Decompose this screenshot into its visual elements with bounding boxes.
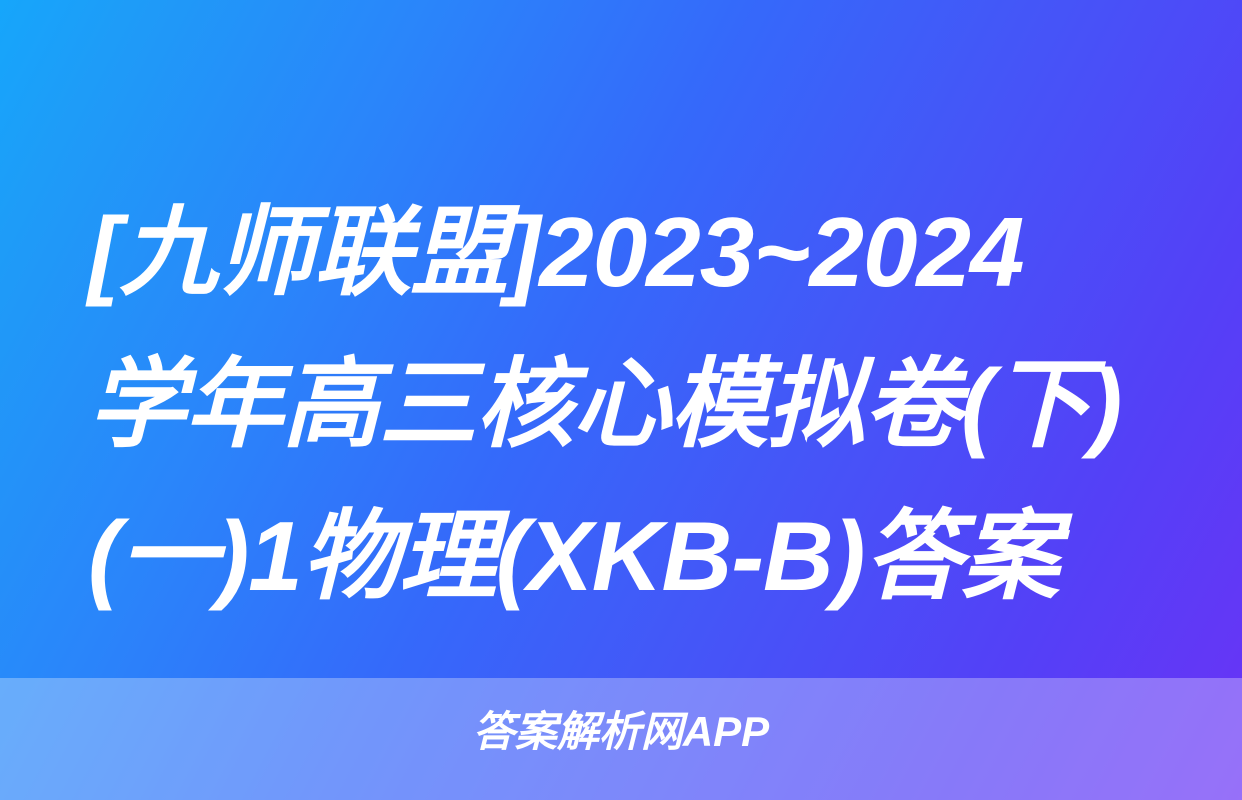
app-name-label: 答案解析网APP [0,706,1242,758]
title-line-1: [九师联盟]2023~2024 [88,176,1154,328]
promo-banner: [九师联盟]2023~2024 学年高三核心模拟卷(下) (一)1物理(XKB-… [0,0,1242,800]
page-title: [九师联盟]2023~2024 学年高三核心模拟卷(下) (一)1物理(XKB-… [0,176,1242,632]
title-line-3: (一)1物理(XKB-B)答案 [88,480,1154,632]
title-line-2: 学年高三核心模拟卷(下) [88,328,1154,480]
